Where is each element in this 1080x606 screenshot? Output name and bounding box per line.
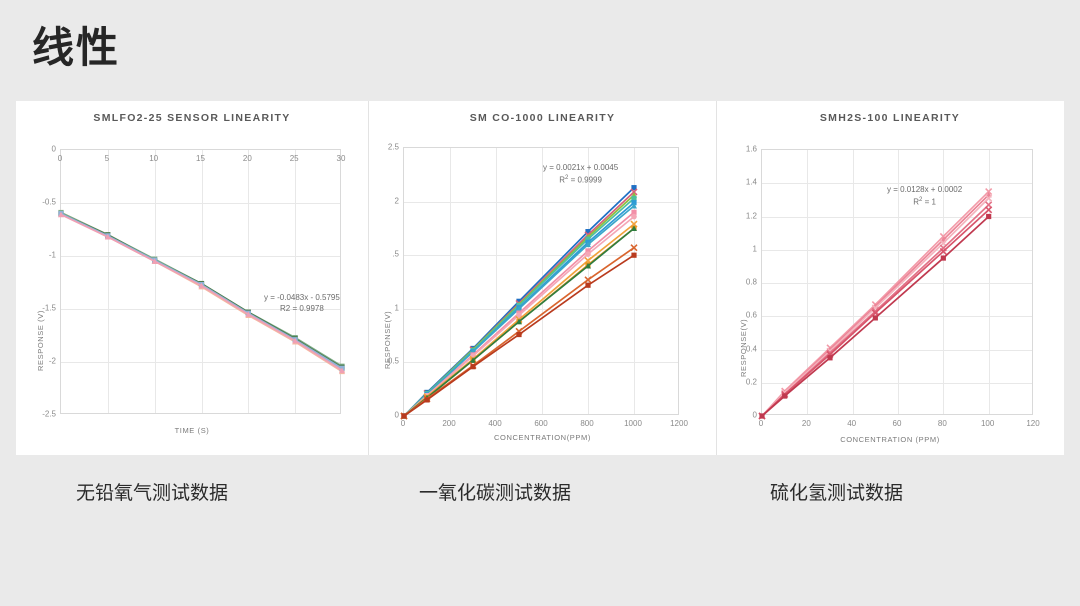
y-axis-tick-label: 0 <box>24 145 56 154</box>
x-axis-tick-label: 15 <box>196 154 205 163</box>
data-marker <box>873 315 878 320</box>
x-axis-tick-label: 25 <box>290 154 299 163</box>
chart-annotation-smlfo2-25: y = -0.0483x - 0.5795 R2 = 0.9978 <box>264 293 340 315</box>
x-axis-label-smh2s-100: CONCENTRATION (PPM) <box>717 435 1063 444</box>
data-marker <box>585 251 591 257</box>
r2-text: R2 = 0.9978 <box>264 304 340 315</box>
x-axis-tick-label: 400 <box>488 419 501 428</box>
data-marker <box>759 413 764 418</box>
y-axis-tick-label: 1.4 <box>725 178 757 187</box>
x-axis-tick-label: 1000 <box>624 419 642 428</box>
slide-root: 线性 SMLFO2-25 SENSOR LINEARITY y = -0.048… <box>0 0 1080 606</box>
y-axis-tick-label: -2.5 <box>24 410 56 419</box>
data-marker <box>631 214 637 220</box>
x-axis-tick-label: 600 <box>534 419 547 428</box>
y-axis-tick-label: 0.5 <box>367 357 399 366</box>
x-axis-tick-label: 80 <box>938 419 947 428</box>
data-marker <box>516 332 521 337</box>
plot-area-smlfo2-25 <box>60 149 341 414</box>
data-marker <box>986 207 992 213</box>
x-axis-label-smlfo2-25: TIME (S) <box>16 426 368 435</box>
y-axis-tick-label: 0 <box>725 411 757 420</box>
series-layer <box>61 150 342 415</box>
r2-text: R2 = 0.9999 <box>543 174 618 186</box>
data-marker <box>827 355 832 360</box>
chart-annotation-sm-co-1000: y = 0.0021x + 0.0045 R2 = 0.9999 <box>543 163 618 186</box>
y-axis-tick-label: 0.8 <box>725 278 757 287</box>
y-axis-tick-label: 0.6 <box>725 311 757 320</box>
y-axis-tick-label: -1.5 <box>24 304 56 313</box>
x-axis-label-sm-co-1000: CONCENTRATION(PPM) <box>369 433 716 442</box>
caption-oxygen: 无铅氧气测试数据 <box>76 478 228 505</box>
plot-area-sm-co-1000 <box>403 147 679 415</box>
y-axis-tick-label: 1 <box>725 244 757 253</box>
y-axis-tick-label: 1.6 <box>725 145 757 154</box>
y-axis-tick-label: 1 <box>367 303 399 312</box>
x-axis-tick-label: 10 <box>149 154 158 163</box>
equation-text: y = 0.0021x + 0.0045 <box>543 163 618 174</box>
data-marker <box>585 277 591 283</box>
y-axis-tick-label: 2.5 <box>367 143 399 152</box>
chart-cell-smlfo2-25: SMLFO2-25 SENSOR LINEARITY y = -0.0483x … <box>16 101 368 455</box>
x-axis-tick-label: 20 <box>802 419 811 428</box>
data-marker <box>470 364 475 369</box>
y-axis-tick-label: -2 <box>24 357 56 366</box>
x-axis-tick-label: 60 <box>893 419 902 428</box>
equation-text: y = -0.0483x - 0.5795 <box>264 293 340 304</box>
data-marker <box>401 413 406 418</box>
x-axis-tick-label: 120 <box>1026 419 1039 428</box>
chart-annotation-smh2s-100: y = 0.0128x + 0.0002 R2 = 1 <box>887 185 962 208</box>
chart-title-sm-co-1000: SM CO-1000 LINEARITY <box>369 112 716 124</box>
x-axis-tick-label: 0 <box>401 419 405 428</box>
x-axis-tick-label: 0 <box>759 419 763 428</box>
x-axis-tick-label: 200 <box>442 419 455 428</box>
data-marker <box>941 255 946 260</box>
y-axis-tick-label: 0.4 <box>725 344 757 353</box>
data-marker <box>631 253 636 258</box>
x-axis-tick-label: 20 <box>243 154 252 163</box>
data-marker <box>986 214 991 219</box>
chart-cell-smh2s-100: SMH2S-100 LINEARITY y = 0.0128x + 0.0002… <box>716 101 1063 455</box>
data-marker <box>631 245 637 251</box>
data-line <box>61 213 342 371</box>
y-axis-tick-label: 2 <box>367 196 399 205</box>
chart-cell-sm-co-1000: SM CO-1000 LINEARITY y = 0.0021x + 0.004… <box>368 101 716 455</box>
y-axis-tick-label: .5 <box>367 250 399 259</box>
caption-co: 一氧化碳测试数据 <box>419 478 571 505</box>
x-axis-tick-label: 40 <box>847 419 856 428</box>
y-axis-tick-label: 0 <box>367 411 399 420</box>
r2-text: R2 = 1 <box>887 196 962 208</box>
y-axis-tick-label: -0.5 <box>24 198 56 207</box>
caption-row: 无铅氧气测试数据 一氧化碳测试数据 硫化氢测试数据 <box>0 478 1080 518</box>
data-marker <box>424 397 429 402</box>
data-marker <box>940 248 946 254</box>
x-axis-tick-label: 800 <box>580 419 593 428</box>
x-axis-tick-label: 5 <box>105 154 109 163</box>
y-axis-tick-label: 1.2 <box>725 211 757 220</box>
data-line <box>61 214 342 370</box>
y-axis-tick-label: 0.2 <box>725 377 757 386</box>
equation-text: y = 0.0128x + 0.0002 <box>887 185 962 196</box>
charts-panel: SMLFO2-25 SENSOR LINEARITY y = -0.0483x … <box>16 101 1064 455</box>
data-marker <box>585 283 590 288</box>
x-axis-tick-label: 30 <box>337 154 346 163</box>
caption-h2s: 硫化氢测试数据 <box>770 478 903 505</box>
data-marker <box>782 393 787 398</box>
x-axis-tick-label: 1200 <box>670 419 688 428</box>
y-axis-tick-label: -1 <box>24 251 56 260</box>
x-axis-tick-label: 0 <box>58 154 62 163</box>
chart-title-smh2s-100: SMH2S-100 LINEARITY <box>717 112 1063 124</box>
x-axis-tick-label: 100 <box>981 419 994 428</box>
series-layer <box>404 148 680 416</box>
chart-title-smlfo2-25: SMLFO2-25 SENSOR LINEARITY <box>16 112 368 124</box>
page-title: 线性 <box>32 27 120 69</box>
